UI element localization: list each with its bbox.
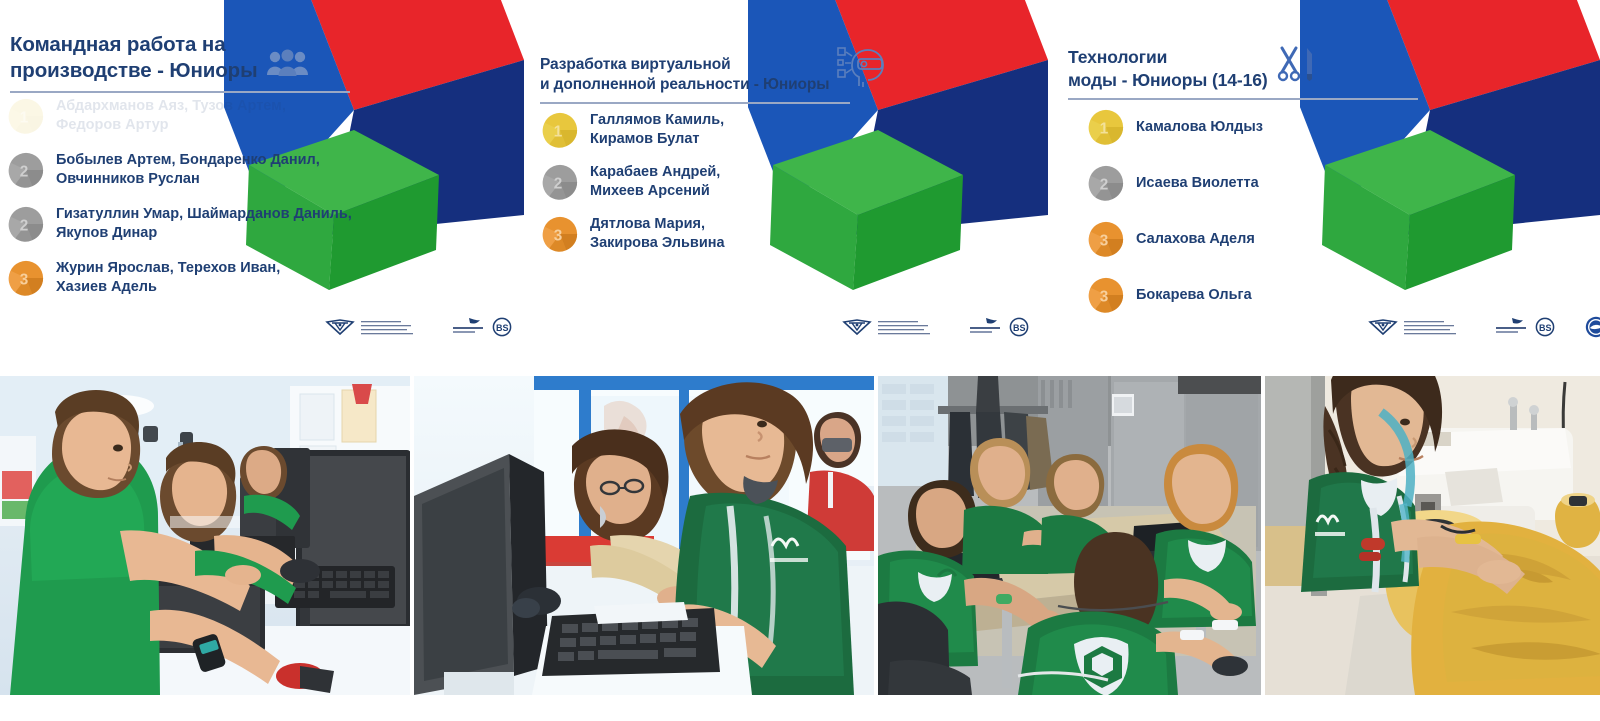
winner-row: 3 Журин Ярослав, Терехов Иван, Хазиев Ад… <box>8 258 408 298</box>
bs-badge-logo: BS <box>1009 317 1029 337</box>
svg-text:1: 1 <box>20 109 29 126</box>
winner-row: 1 Галлямов Камиль, Кирамов Булат <box>542 110 872 150</box>
scissors-pencil-icon <box>1276 44 1318 89</box>
medal-gold-icon: 1 <box>542 112 578 148</box>
winner-row: 2 Гизатуллин Умар, Шаймарданов Даниль, Я… <box>8 204 408 244</box>
winner-names: Абдархманов Аяз, Тузов Артем, Федоров Ар… <box>56 97 286 135</box>
panel-heading: Командная работа на производстве - Юниор… <box>10 32 360 93</box>
svg-text:2: 2 <box>554 175 563 192</box>
winner-names: Камалова Юлдыз <box>1136 118 1263 137</box>
winner-names: Журин Ярослав, Терехов Иван, Хазиев Адел… <box>56 259 280 297</box>
winner-row: 3 Дятлова Мария, Закирова Эльвина <box>542 214 872 254</box>
ministry-text-logo <box>1404 319 1456 335</box>
winner-names: Бобылев Артем, Бондаренко Данил, Овчинни… <box>56 151 320 189</box>
svg-text:3: 3 <box>1100 232 1109 249</box>
svg-text:BS: BS <box>1013 323 1026 333</box>
results-slide: Командная работа на производстве - Юниор… <box>0 0 1600 721</box>
heading-rule <box>1068 98 1418 100</box>
winner-names: Гизатуллин Умар, Шаймарданов Даниль, Яку… <box>56 205 352 243</box>
ministry-text-logo <box>361 319 413 335</box>
round-emblem-logo <box>1585 316 1600 338</box>
winners-list: 1 Галлямов Камиль, Кирамов Булат 2 <box>542 110 872 266</box>
panel-vr-ar-development-juniors: Разработка виртуальной и дополненной реа… <box>524 0 1048 352</box>
medal-silver-icon: 2 <box>1088 165 1124 201</box>
medal-silver-icon: 2 <box>8 206 44 242</box>
bs-badge-logo: BS <box>492 317 512 337</box>
ministry-text-logo <box>878 319 930 335</box>
winner-names: Карабаев Андрей, Михеев Арсений <box>590 163 720 201</box>
youngskills-russia-logo <box>453 317 487 337</box>
svg-text:3: 3 <box>20 271 29 288</box>
winner-names: Салахова Аделя <box>1136 230 1255 249</box>
people-group-icon <box>266 49 310 82</box>
svg-text:BS: BS <box>496 323 509 333</box>
medal-silver-icon: 2 <box>8 152 44 188</box>
heading-rule <box>540 102 850 104</box>
footer-logos: BS <box>842 316 1048 338</box>
medal-bronze-icon: 3 <box>1088 277 1124 313</box>
winners-list: 1 Камалова Юлдыз 2 <box>1088 108 1428 332</box>
svg-text:BS: BS <box>1539 323 1552 333</box>
winner-names: Дятлова Мария, Закирова Эльвина <box>590 215 725 253</box>
photo-students-at-monitors <box>0 376 410 695</box>
svg-text:2: 2 <box>1100 176 1109 193</box>
worldskills-diamond-logo <box>842 318 872 336</box>
results-panels: Командная работа на производстве - Юниор… <box>0 0 1600 352</box>
footer-logos: BS <box>1368 316 1600 338</box>
photo-team-at-desk-laptops <box>878 376 1261 695</box>
svg-text:3: 3 <box>1100 288 1109 305</box>
worldskills-diamond-logo <box>1368 318 1398 336</box>
youngskills-russia-logo <box>1496 317 1530 337</box>
winner-row: 1 Камалова Юлдыз <box>1088 108 1428 146</box>
panel-heading: Разработка виртуальной и дополненной реа… <box>540 44 900 104</box>
heading-rule <box>10 91 350 93</box>
worldskills-diamond-logo <box>325 318 355 336</box>
winner-row: 3 Салахова Аделя <box>1088 220 1428 258</box>
svg-text:1: 1 <box>1100 120 1109 137</box>
medal-bronze-icon: 3 <box>542 216 578 252</box>
winner-row: 1 Абдархманов Аяз, Тузов Артем, Федоров … <box>8 96 408 136</box>
winner-row: 3 Бокарева Ольга <box>1088 276 1428 314</box>
medal-gold-icon: 1 <box>1088 109 1124 145</box>
winners-list: 1 Абдархманов Аяз, Тузов Артем, Федоров … <box>8 96 408 312</box>
svg-text:2: 2 <box>20 163 29 180</box>
winner-row: 2 Карабаев Андрей, Михеев Арсений <box>542 162 872 202</box>
winner-row: 2 Исаева Виолетта <box>1088 164 1428 202</box>
photo-students-at-laptop-window <box>414 376 874 695</box>
winner-names: Бокарева Ольга <box>1136 286 1252 305</box>
svg-text:1: 1 <box>554 123 563 140</box>
panel-fashion-technology-juniors: Технологии моды - Юниоры (14-16) <box>1048 0 1600 352</box>
medal-bronze-icon: 3 <box>8 260 44 296</box>
panel-heading: Технологии моды - Юниоры (14-16) <box>1068 44 1438 100</box>
panel-teamwork-production-juniors: Командная работа на производстве - Юниор… <box>0 0 524 352</box>
medal-bronze-icon: 3 <box>1088 221 1124 257</box>
panel-title: Технологии моды - Юниоры (14-16) <box>1068 46 1268 91</box>
winner-row: 2 Бобылев Артем, Бондаренко Данил, Овчин… <box>8 150 408 190</box>
svg-text:3: 3 <box>554 227 563 244</box>
photo-strip <box>0 376 1600 695</box>
bs-badge-logo: BS <box>1535 317 1555 337</box>
medal-gold-icon: 1 <box>8 98 44 134</box>
panel-title: Командная работа на производстве - Юниор… <box>10 32 258 84</box>
footer-logos: BS <box>325 316 524 338</box>
youngskills-russia-logo <box>970 317 1004 337</box>
medal-silver-icon: 2 <box>542 164 578 200</box>
vr-headset-head-icon <box>837 44 885 93</box>
photo-girl-sewing-machine <box>1265 376 1600 695</box>
svg-text:2: 2 <box>20 217 29 234</box>
panel-title: Разработка виртуальной и дополненной реа… <box>540 55 829 95</box>
winner-names: Исаева Виолетта <box>1136 174 1259 193</box>
winner-names: Галлямов Камиль, Кирамов Булат <box>590 111 724 149</box>
